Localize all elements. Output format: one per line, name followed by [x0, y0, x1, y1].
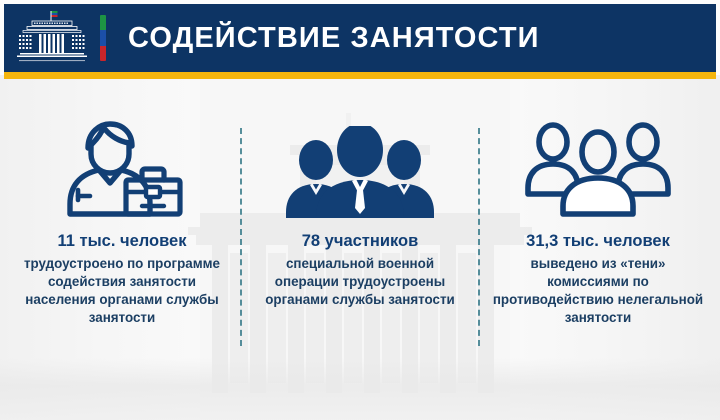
- stats-columns: 11 тыс. человек трудоустроено по програм…: [4, 100, 716, 385]
- dagestan-flag-bar: [100, 15, 106, 61]
- stat-body-text: специальной военной операции трудоустрое…: [254, 255, 466, 309]
- worker-with-briefcase-icon: [58, 100, 186, 218]
- stat-body-text: трудоустроено по программе содействия за…: [16, 255, 228, 327]
- stat-headline: 78 участников: [302, 232, 419, 250]
- header-bar: СОДЕЙСТВИЕ ЗАНЯТОСТИ: [4, 4, 716, 72]
- stat-column-1: 11 тыс. человек трудоустроено по програм…: [4, 100, 240, 385]
- government-building-logo: [8, 8, 96, 68]
- logo-container: [4, 4, 100, 72]
- stat-headline: 31,3 тыс. человек: [526, 232, 670, 250]
- stat-column-2: 78 участников специальной военной операц…: [242, 100, 478, 385]
- flag-stripe-blue: [100, 30, 106, 45]
- page-title: СОДЕЙСТВИЕ ЗАНЯТОСТИ: [128, 24, 540, 53]
- flag-stripe-green: [100, 15, 106, 30]
- stat-column-3: 31,3 тыс. человек выведено из «тени» ком…: [480, 100, 716, 385]
- three-people-outline-icon: [523, 100, 673, 218]
- infographic-page: СОДЕЙСТВИЕ ЗАНЯТОСТИ: [0, 0, 720, 420]
- three-people-suits-filled-icon: [284, 100, 436, 218]
- gold-accent-strip: [4, 72, 716, 79]
- stat-body-text: выведено из «тени» комиссиями по противо…: [492, 255, 704, 327]
- flag-stripe-red: [100, 46, 106, 61]
- stat-headline: 11 тыс. человек: [57, 232, 186, 250]
